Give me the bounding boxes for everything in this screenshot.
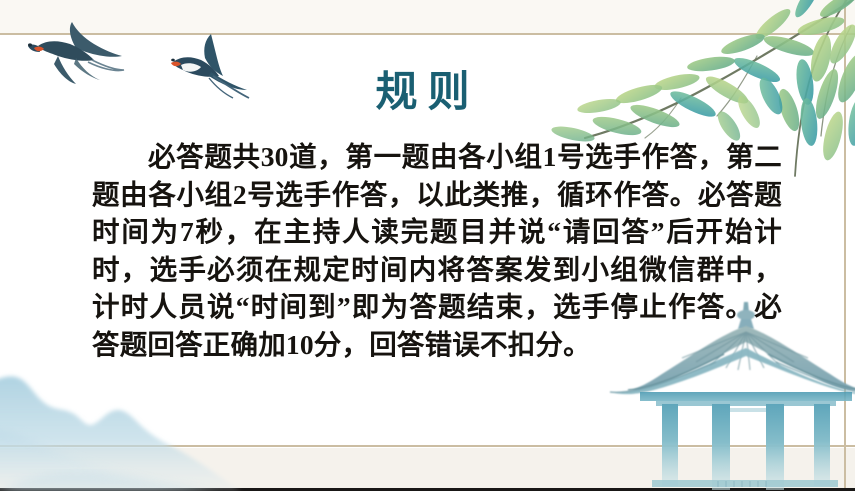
rules-paragraph: 必答题共30道，第一题由各小组1号选手作答，第二题由各小组2号选手作答，以此类推… xyxy=(92,138,782,363)
top-rule-line xyxy=(0,33,855,35)
page-title: 规则 xyxy=(0,58,855,119)
bottom-rule-line xyxy=(0,445,855,447)
bottom-band xyxy=(0,448,855,488)
slide-canvas: 规则 必答题共30道，第一题由各小组1号选手作答，第二题由各小组2号选手作答，以… xyxy=(0,0,855,491)
top-band xyxy=(0,0,855,34)
